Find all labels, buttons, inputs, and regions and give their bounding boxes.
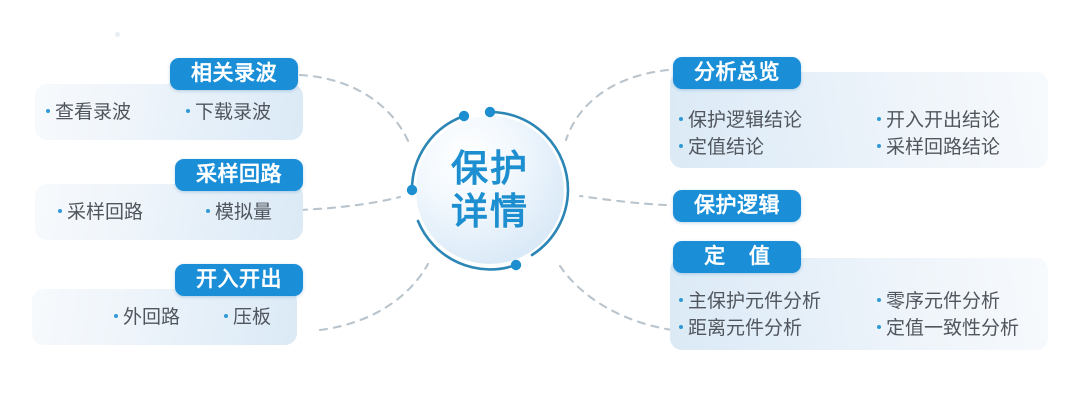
- badge-left-1[interactable]: 相关录波: [170, 58, 298, 90]
- connector-right-1: [566, 70, 668, 140]
- list-item-label: 采样回路: [67, 199, 143, 226]
- list-item-label: 开入开出结论: [886, 107, 1000, 134]
- bullet-icon: [186, 109, 190, 113]
- badge-right-3[interactable]: 定 值: [673, 241, 801, 273]
- list-item[interactable]: 模拟量: [206, 199, 302, 226]
- bullet-icon: [206, 209, 210, 213]
- list-item[interactable]: 零序元件分析: [877, 288, 1047, 315]
- list-item[interactable]: 定值结论: [679, 134, 877, 161]
- list-item-label: 定值一致性分析: [886, 315, 1019, 342]
- list-item-label: 查看录波: [55, 99, 131, 126]
- diagram-canvas: 保护 详情 相关录波 查看录波 下载录波 采样回路 采样回路 模拟量: [0, 0, 1080, 417]
- list-item-label: 定值结论: [688, 134, 764, 161]
- bullet-icon: [46, 109, 50, 113]
- bullet-icon: [877, 298, 881, 302]
- bullet-icon: [877, 117, 881, 121]
- items-left-3: 外回路 压板: [114, 304, 304, 331]
- badge-left-2[interactable]: 采样回路: [175, 159, 303, 191]
- bullet-icon: [679, 325, 683, 329]
- bullet-icon: [877, 325, 881, 329]
- list-item-label: 压板: [233, 304, 271, 331]
- connector-right-3: [560, 266, 672, 330]
- connector-left-1: [300, 75, 409, 143]
- list-item[interactable]: 下载录波: [186, 99, 304, 126]
- badge-left-3[interactable]: 开入开出: [175, 264, 303, 296]
- badge-right-1[interactable]: 分析总览: [673, 57, 801, 89]
- center-hub: 保护 详情: [404, 104, 576, 276]
- bullet-icon: [679, 117, 683, 121]
- list-item-label: 采样回路结论: [886, 134, 1000, 161]
- list-item[interactable]: 距离元件分析: [679, 315, 877, 342]
- list-item[interactable]: 压板: [224, 304, 294, 331]
- list-item[interactable]: 外回路: [114, 304, 224, 331]
- list-item[interactable]: 定值一致性分析: [877, 315, 1047, 342]
- list-item-label: 下载录波: [195, 99, 271, 126]
- bullet-icon: [679, 144, 683, 148]
- list-item-label: 外回路: [123, 304, 180, 331]
- list-item[interactable]: 查看录波: [46, 99, 186, 126]
- bullet-icon: [679, 298, 683, 302]
- list-item-label: 主保护元件分析: [688, 288, 821, 315]
- hub-label: 保护 详情: [404, 104, 576, 276]
- badge-right-2[interactable]: 保护逻辑: [673, 190, 801, 222]
- items-right-1: 保护逻辑结论 开入开出结论 定值结论 采样回路结论: [679, 107, 1049, 161]
- list-item-label: 零序元件分析: [886, 288, 1000, 315]
- list-item[interactable]: 采样回路结论: [877, 134, 1047, 161]
- list-item[interactable]: 主保护元件分析: [679, 288, 877, 315]
- items-left-2: 采样回路 模拟量: [58, 199, 308, 226]
- items-left-1: 查看录波 下载录波: [46, 99, 304, 126]
- bullet-icon: [877, 144, 881, 148]
- items-right-3: 主保护元件分析 零序元件分析 距离元件分析 定值一致性分析: [679, 288, 1049, 342]
- bullet-icon: [58, 209, 62, 213]
- bullet-icon: [114, 314, 118, 318]
- decorative-speck: [115, 32, 120, 37]
- list-item[interactable]: 开入开出结论: [877, 107, 1047, 134]
- connector-left-2: [300, 197, 400, 210]
- hub-label-line2: 详情: [451, 190, 529, 233]
- list-item-label: 模拟量: [215, 199, 272, 226]
- connector-right-2: [580, 196, 666, 205]
- list-item-label: 保护逻辑结论: [688, 107, 802, 134]
- list-item[interactable]: 采样回路: [58, 199, 206, 226]
- bullet-icon: [224, 314, 228, 318]
- hub-label-line1: 保护: [451, 147, 529, 190]
- list-item-label: 距离元件分析: [688, 315, 802, 342]
- list-item[interactable]: 保护逻辑结论: [679, 107, 877, 134]
